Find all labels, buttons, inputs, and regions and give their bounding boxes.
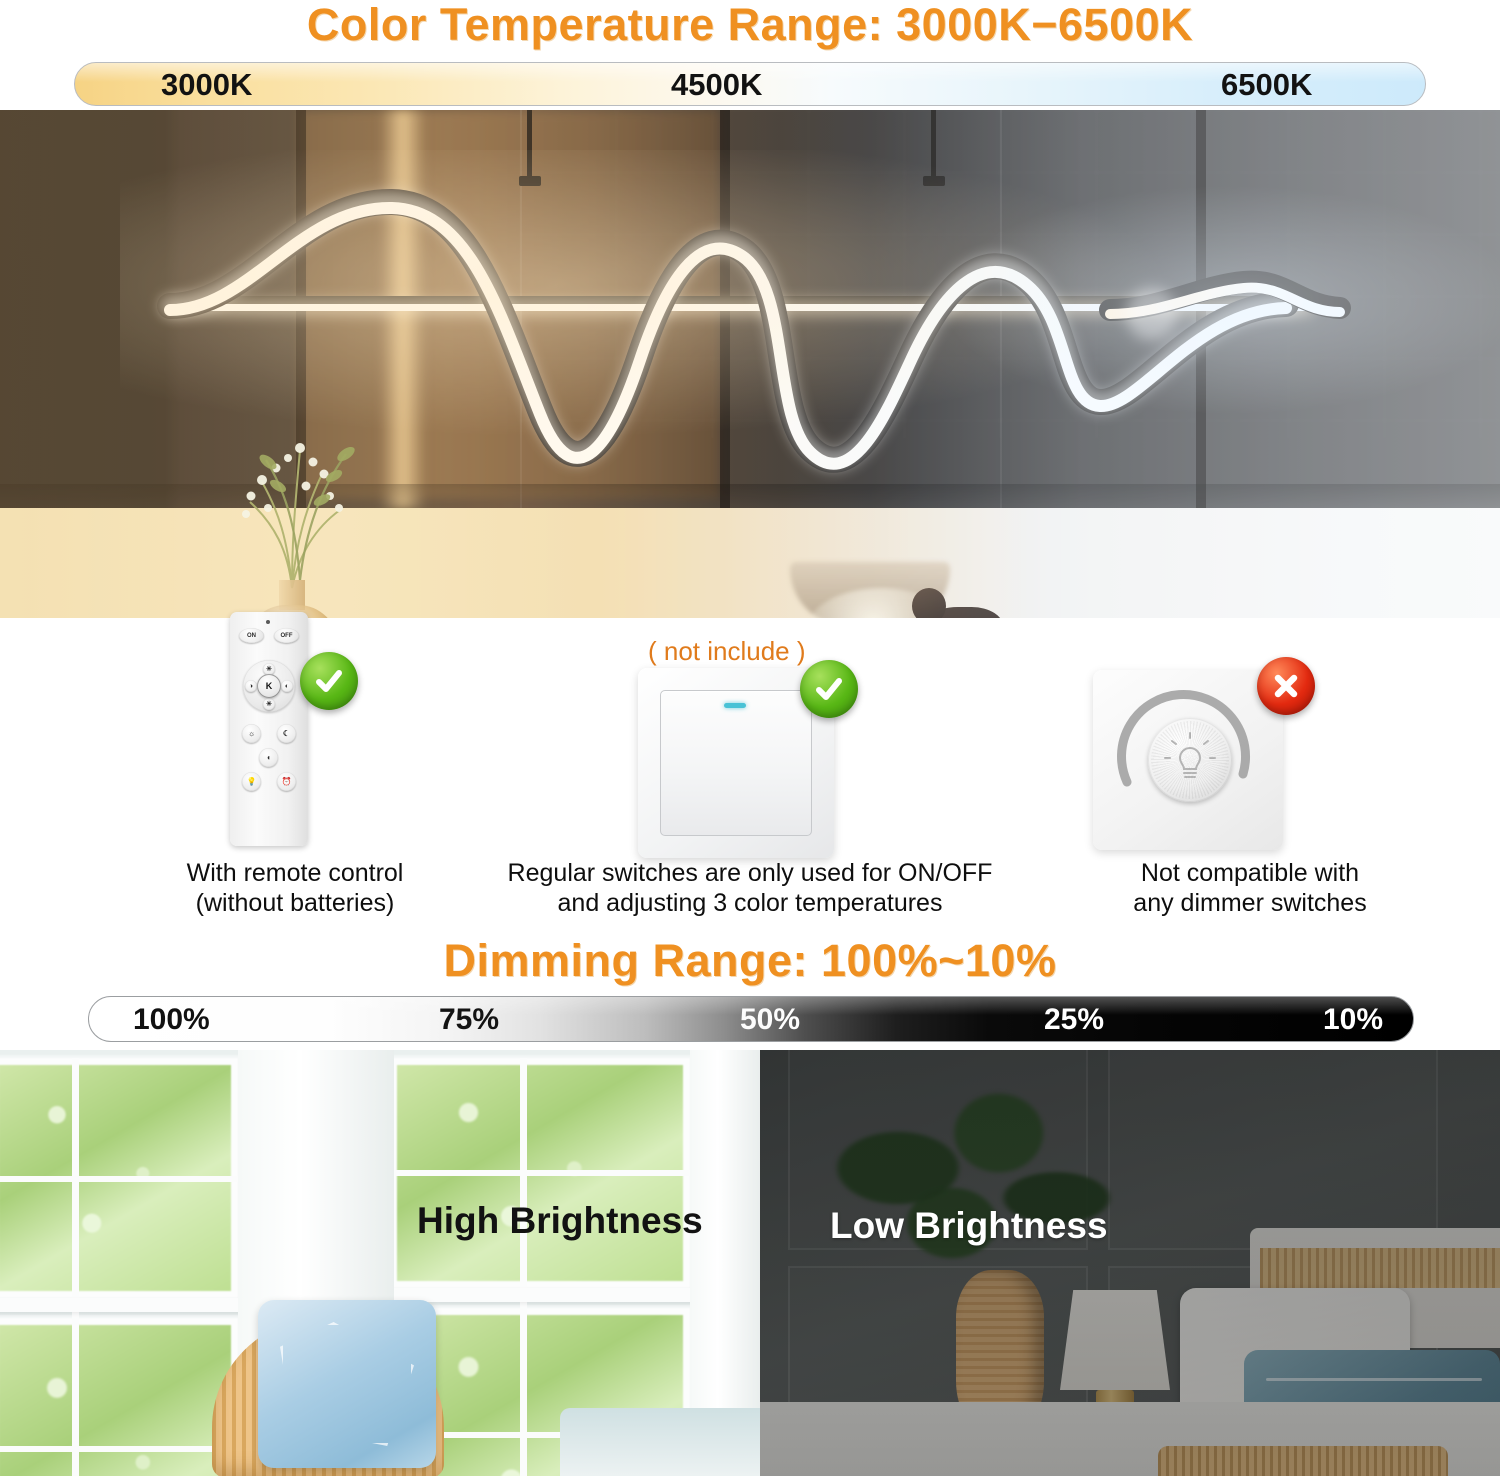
brightness-down-icon[interactable]: ☀	[263, 698, 275, 710]
dimming-gradient-bar: 100% 75% 50% 25% 10%	[88, 996, 1414, 1042]
photo-low-brightness	[760, 1050, 1500, 1476]
bulb-mode-icon[interactable]: 💡	[242, 772, 261, 791]
window-muntin	[390, 1170, 690, 1176]
timer-mode-icon[interactable]: ⏰	[277, 772, 296, 791]
remote-off-button[interactable]: OFF	[274, 628, 299, 643]
blue-throw-pillow	[258, 1300, 436, 1468]
headboard-rattan-inlay	[1260, 1248, 1500, 1288]
dim-tick-100: 100%	[133, 997, 210, 1042]
window-sill	[0, 1298, 248, 1312]
caption-line-2: and adjusting 3 color temperatures	[470, 888, 1030, 918]
night-mode-icon[interactable]: ☾	[277, 724, 296, 743]
compatible-check-badge	[300, 652, 358, 710]
window-muntin	[0, 1176, 238, 1182]
woven-basket	[1158, 1446, 1448, 1476]
wall-switch-rocker[interactable]	[660, 690, 812, 836]
bulb-icon	[1148, 718, 1232, 802]
contrast-mode-icon[interactable]: ◖	[259, 748, 278, 767]
close-icon	[1270, 670, 1302, 702]
window-muntin	[0, 1446, 238, 1452]
table-lamp-shade	[1060, 1290, 1170, 1390]
brightness-comparison-photos	[0, 1050, 1500, 1476]
photo-high-brightness	[0, 1050, 760, 1476]
switch-compatible-check-badge	[800, 660, 858, 718]
caption-line-1: Regular switches are only used for ON/OF…	[470, 858, 1030, 888]
check-icon	[312, 664, 346, 698]
window-muntin	[72, 1058, 79, 1476]
caption-line-1: Not compatible with	[1040, 858, 1460, 888]
color-temp-warm-icon[interactable]: ◑	[245, 680, 257, 692]
wall-panel	[1108, 1050, 1438, 1250]
low-brightness-label: Low Brightness	[830, 1205, 1108, 1247]
dimming-range-title: Dimming Range: 100%~10%	[0, 934, 1500, 988]
remote-led-indicator	[266, 620, 270, 624]
dimmer-switch-plate[interactable]	[1093, 670, 1283, 850]
check-icon	[812, 672, 846, 706]
remote-on-button[interactable]: ON	[239, 628, 264, 643]
remote-control[interactable]: ON OFF ☀ ◑ ◐ ☀ K ☼ ☾ ◖ 💡 ⏰	[230, 612, 308, 846]
ct-tick-4500k: 4500K	[671, 63, 762, 106]
window-sill	[380, 1288, 698, 1302]
caption-line-2: any dimmer switches	[1040, 888, 1460, 918]
hero-photo-chandelier	[0, 110, 1500, 618]
color-temp-cool-icon[interactable]: ◐	[281, 680, 293, 692]
ct-tick-3000k: 3000K	[161, 63, 252, 106]
incompatible-cross-badge	[1257, 657, 1315, 715]
ct-tick-6500k: 6500K	[1221, 63, 1312, 106]
dimmer-knob[interactable]	[1148, 718, 1232, 802]
product-infographic: Color Temperature Range: 3000K−6500K 300…	[0, 0, 1500, 1476]
feature-switch-caption: Regular switches are only used for ON/OF…	[470, 858, 1030, 918]
not-included-tag: ( not include )	[648, 636, 806, 667]
color-temperature-gradient-bar: 3000K 4500K 6500K	[74, 62, 1426, 106]
caption-line-2: (without batteries)	[130, 888, 460, 918]
bed-corner	[560, 1408, 760, 1476]
dim-tick-25: 25%	[1044, 997, 1104, 1042]
feature-dimmer-caption: Not compatible with any dimmer switches	[1040, 858, 1460, 918]
color-temperature-title: Color Temperature Range: 3000K−6500K	[0, 0, 1500, 52]
daylight-mode-icon[interactable]: ☼	[242, 724, 261, 743]
window-pane	[0, 1318, 238, 1476]
remote-kelvin-button[interactable]: K	[257, 674, 281, 698]
window-muntin	[520, 1058, 527, 1476]
color-temperature-wash-overlay	[0, 110, 1500, 618]
dim-tick-50: 50%	[740, 997, 800, 1042]
feature-remote-caption: With remote control (without batteries)	[130, 858, 460, 918]
dim-tick-75: 75%	[439, 997, 499, 1042]
switch-led-indicator	[724, 703, 746, 708]
caption-line-1: With remote control	[130, 858, 460, 888]
high-brightness-label: High Brightness	[417, 1200, 703, 1242]
dim-tick-10: 10%	[1323, 997, 1383, 1042]
